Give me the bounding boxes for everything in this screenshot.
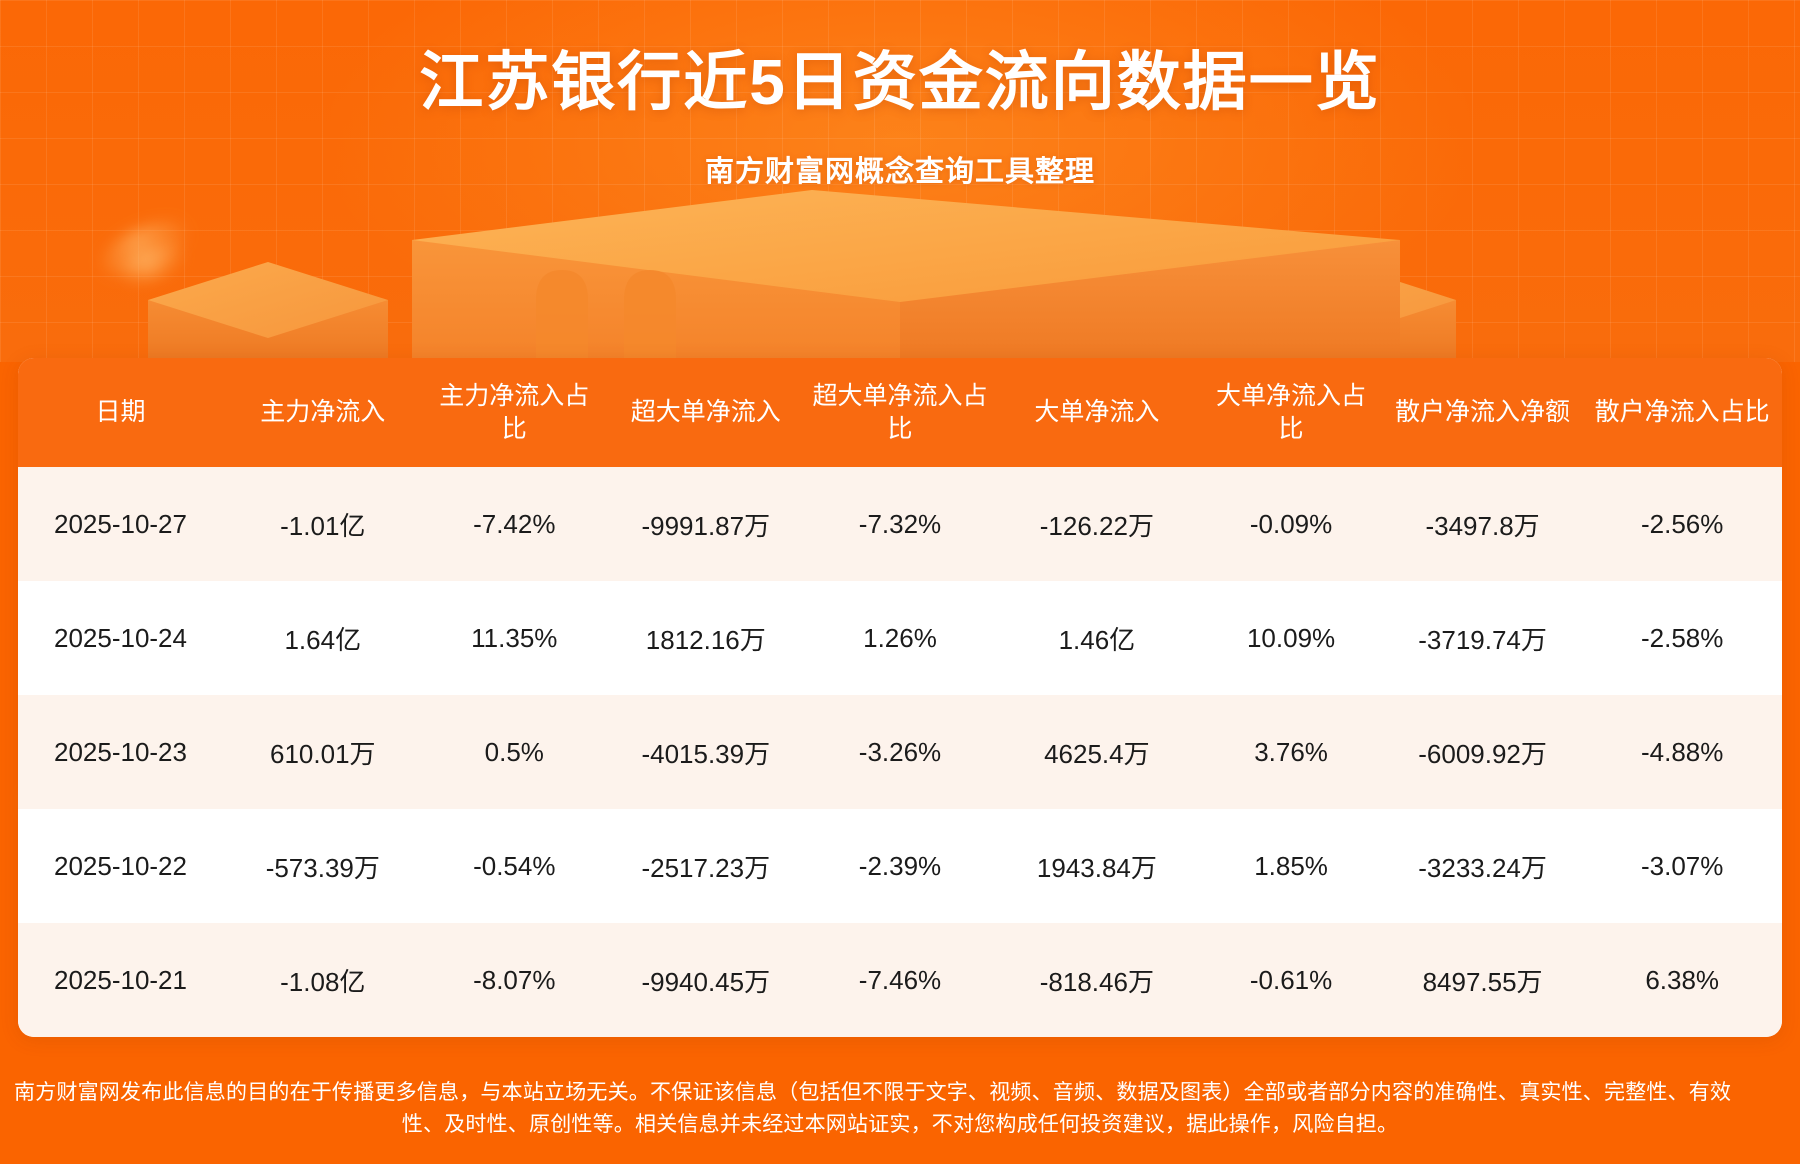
page-title: 江苏银行近5日资金流向数据一览 — [0, 45, 1800, 121]
column-header-lg-pct[interactable]: 大单净流入占比 — [1199, 358, 1382, 467]
cell-retail-pct: -3.07% — [1582, 809, 1782, 923]
cell-lg-pct: 1.85% — [1199, 809, 1382, 923]
column-header-main-net[interactable]: 主力净流入 — [223, 358, 423, 467]
cell-main-pct: 0.5% — [423, 695, 606, 809]
table-row: 2025-10-24 1.64亿 11.35% 1812.16万 1.26% 1… — [18, 581, 1782, 695]
cell-xl-pct: -3.26% — [806, 695, 995, 809]
column-header-date[interactable]: 日期 — [18, 358, 223, 467]
cell-main-net: -573.39万 — [223, 809, 423, 923]
cell-lg-pct: 10.09% — [1199, 581, 1382, 695]
cell-lg-pct: -0.09% — [1199, 467, 1382, 581]
cell-xl-net: -4015.39万 — [606, 695, 806, 809]
column-header-retail-net[interactable]: 散户净流入净额 — [1383, 358, 1583, 467]
cell-xl-pct: -7.32% — [806, 467, 995, 581]
table-header: 日期 主力净流入 主力净流入占比 超大单净流入 超大单净流入占比 大单净流入 大… — [18, 358, 1782, 467]
table-header-row: 日期 主力净流入 主力净流入占比 超大单净流入 超大单净流入占比 大单净流入 大… — [18, 358, 1782, 467]
table-row: 2025-10-27 -1.01亿 -7.42% -9991.87万 -7.32… — [18, 467, 1782, 581]
cell-lg-pct: -0.61% — [1199, 923, 1382, 1037]
page-subtitle: 南方财富网概念查询工具整理 — [0, 148, 1800, 190]
cell-lg-net: -126.22万 — [994, 467, 1199, 581]
cell-retail-pct: -4.88% — [1582, 695, 1782, 809]
cell-main-pct: 11.35% — [423, 581, 606, 695]
cell-lg-net: 4625.4万 — [994, 695, 1199, 809]
cell-date: 2025-10-23 — [18, 695, 223, 809]
cell-lg-net: 1943.84万 — [994, 809, 1199, 923]
cell-main-net: -1.01亿 — [223, 467, 423, 581]
cell-lg-net: -818.46万 — [994, 923, 1199, 1037]
disclaimer-line-2: 性、及时性、原创性等。相关信息并未经过本网站证实，不对您构成任何投资建议，据此操… — [14, 1109, 1786, 1142]
light-streak-icon — [116, 239, 192, 290]
disclaimer: 南方财富网发布此信息的目的在于传播更多信息，与本站立场无关。不保证该信息（包括但… — [0, 1077, 1800, 1142]
disclaimer-line-1: 南方财富网发布此信息的目的在于传播更多信息，与本站立场无关。不保证该信息（包括但… — [14, 1077, 1786, 1110]
cell-main-net: -1.08亿 — [223, 923, 423, 1037]
column-header-lg-net[interactable]: 大单净流入 — [994, 358, 1199, 467]
column-header-retail-pct[interactable]: 散户净流入占比 — [1582, 358, 1782, 467]
cell-xl-net: -9991.87万 — [606, 467, 806, 581]
cell-date: 2025-10-21 — [18, 923, 223, 1037]
table-body: 2025-10-27 -1.01亿 -7.42% -9991.87万 -7.32… — [18, 467, 1782, 1037]
cell-retail-net: -3497.8万 — [1383, 467, 1583, 581]
table-row: 2025-10-23 610.01万 0.5% -4015.39万 -3.26%… — [18, 695, 1782, 809]
cell-xl-pct: -7.46% — [806, 923, 995, 1037]
cell-retail-pct: -2.58% — [1582, 581, 1782, 695]
column-header-xl-pct[interactable]: 超大单净流入占比 — [806, 358, 995, 467]
cell-retail-pct: -2.56% — [1582, 467, 1782, 581]
cell-retail-net: -3233.24万 — [1383, 809, 1583, 923]
table-row: 2025-10-22 -573.39万 -0.54% -2517.23万 -2.… — [18, 809, 1782, 923]
cell-lg-net: 1.46亿 — [994, 581, 1199, 695]
poster-root: 江苏银行近5日资金流向数据一览 南方财富网概念查询工具整理 南方财富网 outh… — [0, 0, 1800, 1164]
cell-retail-net: -3719.74万 — [1383, 581, 1583, 695]
cell-lg-pct: 3.76% — [1199, 695, 1382, 809]
cell-retail-pct: 6.38% — [1582, 923, 1782, 1037]
column-header-main-pct[interactable]: 主力净流入占比 — [423, 358, 606, 467]
data-table-card: 南方财富网 outhmoney.com 日期 主力净流入 主力净流入占比 超大单… — [18, 358, 1782, 1037]
fund-flow-table: 日期 主力净流入 主力净流入占比 超大单净流入 超大单净流入占比 大单净流入 大… — [18, 358, 1782, 1037]
cell-main-pct: -8.07% — [423, 923, 606, 1037]
cell-date: 2025-10-22 — [18, 809, 223, 923]
light-streak-icon — [92, 210, 196, 286]
cell-main-net: 610.01万 — [223, 695, 423, 809]
cell-xl-net: -9940.45万 — [606, 923, 806, 1037]
cell-xl-pct: 1.26% — [806, 581, 995, 695]
column-header-xl-net[interactable]: 超大单净流入 — [606, 358, 806, 467]
table-row: 2025-10-21 -1.08亿 -8.07% -9940.45万 -7.46… — [18, 923, 1782, 1037]
cell-xl-net: -2517.23万 — [606, 809, 806, 923]
cell-main-net: 1.64亿 — [223, 581, 423, 695]
cell-xl-pct: -2.39% — [806, 809, 995, 923]
cell-main-pct: -0.54% — [423, 809, 606, 923]
cell-retail-net: 8497.55万 — [1383, 923, 1583, 1037]
cell-date: 2025-10-27 — [18, 467, 223, 581]
cell-xl-net: 1812.16万 — [606, 581, 806, 695]
cell-date: 2025-10-24 — [18, 581, 223, 695]
cell-retail-net: -6009.92万 — [1383, 695, 1583, 809]
cell-main-pct: -7.42% — [423, 467, 606, 581]
